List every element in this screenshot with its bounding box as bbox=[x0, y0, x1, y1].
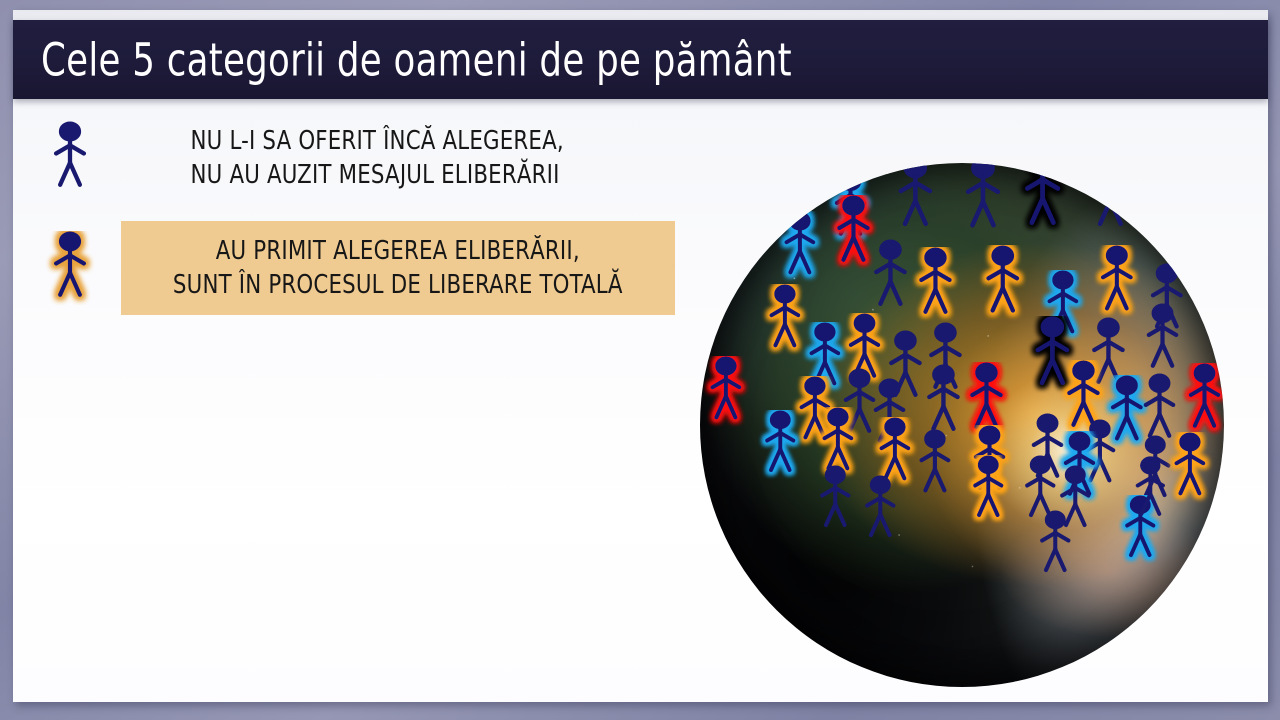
globe-person-figure bbox=[961, 455, 1016, 525]
globe-person-figure bbox=[753, 410, 808, 480]
category-icon-2-slot bbox=[22, 218, 118, 318]
globe-person-figure bbox=[907, 429, 963, 500]
category-highlight-box: AU PRIMIT ALEGEREA ELIBERĂRII, SUNT ÎN P… bbox=[121, 221, 675, 315]
earth-globe bbox=[700, 163, 1224, 687]
stick-figure-glow-icon bbox=[41, 231, 99, 305]
globe-person-figure bbox=[1124, 456, 1177, 523]
stick-figure-icon bbox=[41, 121, 99, 195]
globe-person-figure bbox=[1080, 163, 1141, 235]
globe-person-figure bbox=[906, 247, 965, 322]
category-row-1: NU L-I SA OFERIT ÎNCĂ ALEGEREA, NU AU AU… bbox=[22, 108, 597, 208]
globe-person-figure bbox=[700, 356, 754, 427]
globe-person-figure bbox=[1176, 363, 1224, 436]
category-label-1: NU L-I SA OFERIT ÎNCĂ ALEGEREA, NU AU AU… bbox=[118, 124, 564, 192]
globe-person-figure bbox=[885, 163, 946, 235]
slide-frame: Cele 5 categorii de oameni de pe pământ … bbox=[0, 0, 1280, 720]
category-label-2: AU PRIMIT ALEGEREA ELIBERĂRII, SUNT ÎN P… bbox=[173, 234, 623, 302]
globe-person-figure bbox=[772, 211, 828, 282]
title-bar: Cele 5 categorii de oameni de pe pământ bbox=[13, 20, 1268, 99]
page-title: Cele 5 categorii de oameni de pe pământ bbox=[41, 33, 792, 86]
globe-person-figure bbox=[952, 163, 1014, 237]
globe-person-figure bbox=[1028, 510, 1083, 580]
globe-person-figure bbox=[853, 475, 908, 545]
globe-person-figure bbox=[1011, 163, 1074, 233]
globe-person-figure bbox=[973, 245, 1033, 321]
category-row-2: AU PRIMIT ALEGEREA ELIBERĂRII, SUNT ÎN P… bbox=[22, 218, 675, 318]
globe-person-figure bbox=[1139, 176, 1198, 251]
category-icon-1-slot bbox=[22, 108, 118, 208]
